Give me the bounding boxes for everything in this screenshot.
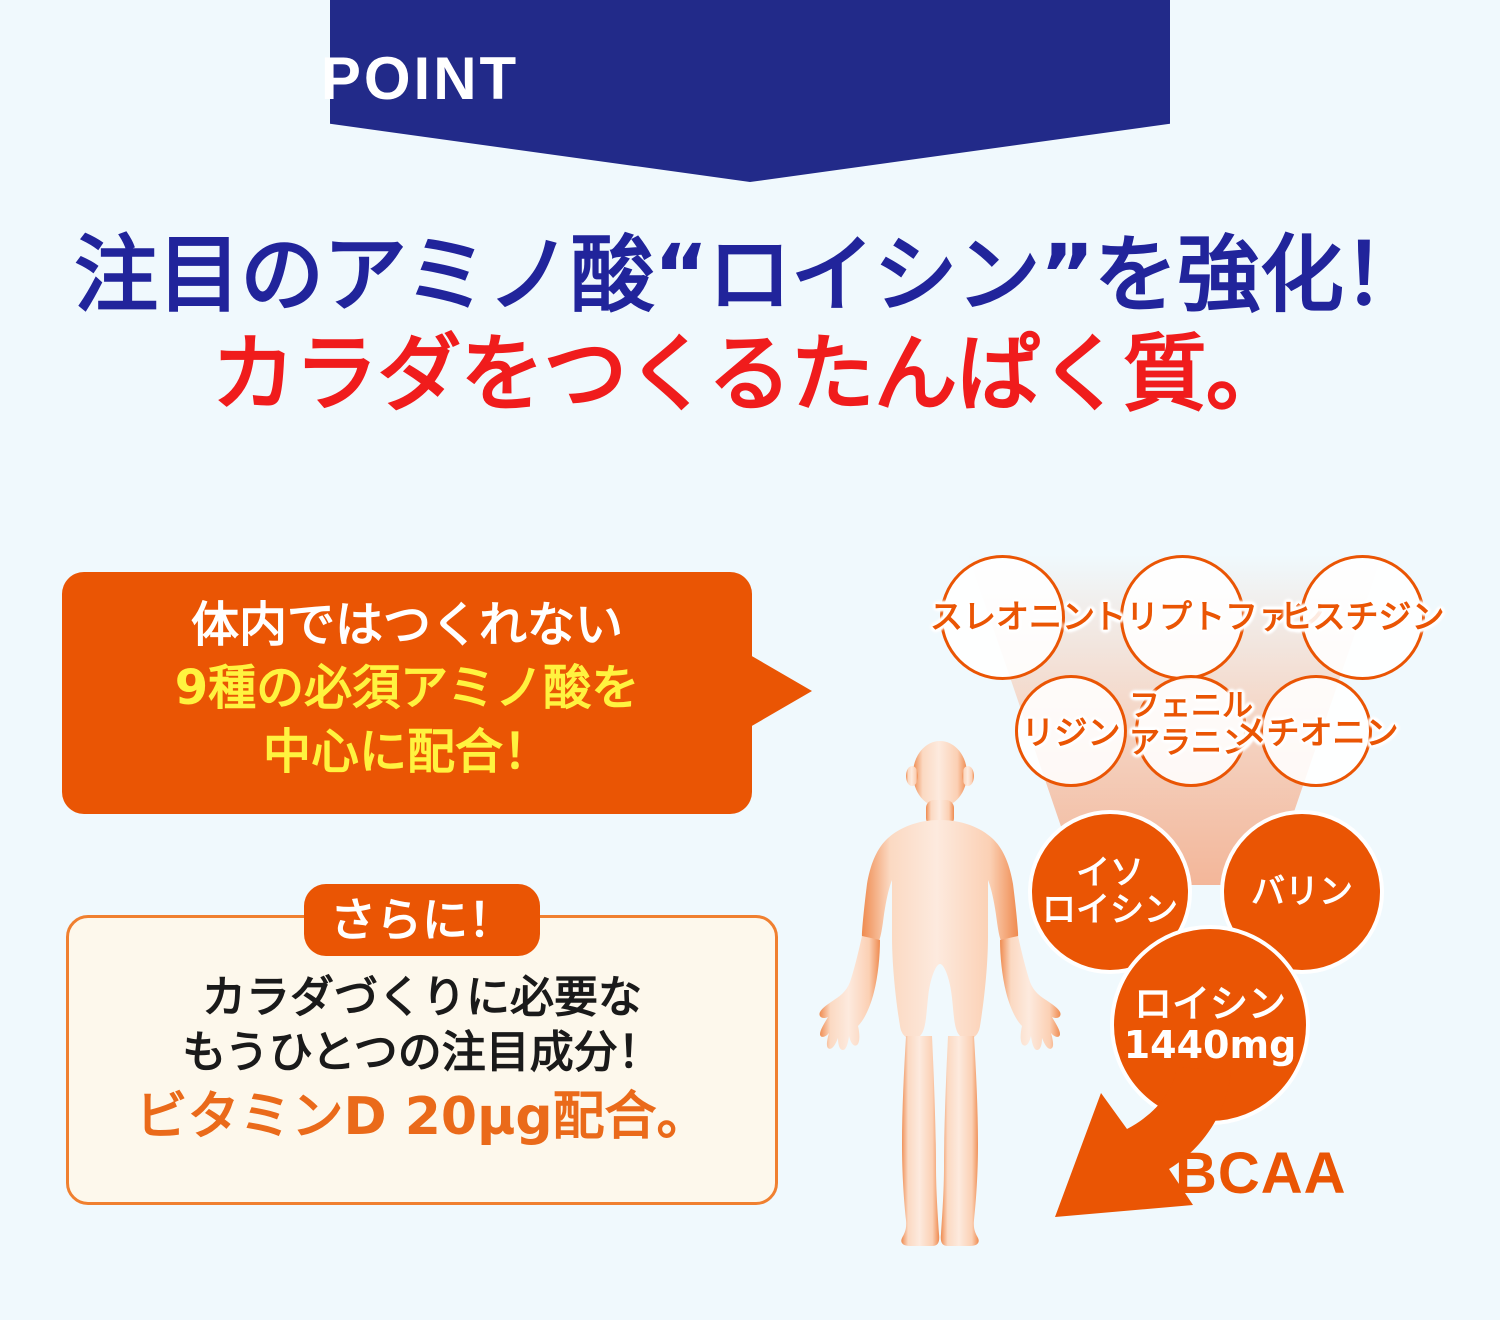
aa-label-lysine: リジン (1015, 706, 1127, 754)
callout-line-1: 体内ではつくれない (62, 594, 752, 657)
aa-label-methionine: メチオニン (1230, 706, 1402, 754)
bcaa-label-valine: バリン (1251, 874, 1353, 911)
callout-line-3: 中心に配合！ (62, 721, 752, 784)
human-body-silhouette-icon (810, 740, 1070, 1260)
aa-label-threonine: スレオニン (930, 590, 1076, 638)
headline: 注目のアミノ酸“ロイシン”を強化！ カラダをつくるたんぱく質。 (0, 228, 1500, 428)
bcaa-tag-label: BCAA (1175, 1140, 1347, 1207)
callout-line-2: 9種の必須アミノ酸を (62, 657, 752, 720)
essential-amino-acid-callout: 体内ではつくれない 9種の必須アミノ酸を 中心に配合！ (62, 572, 752, 814)
aa-label-histidine: ヒスチジン (1276, 590, 1448, 638)
point-section: POINT 注目のアミノ酸“ロイシン”を強化！ カラダをつくるたんぱく質。 体内… (0, 0, 1500, 1320)
vitamin-d-line-1: カラダづくりに必要な (69, 970, 775, 1025)
bcaa-label-leucine: ロイシン 1440mg (1124, 984, 1297, 1066)
headline-line-2: カラダをつくるたんぱく質。 (0, 322, 1500, 428)
sarani-badge: さらに！ (304, 884, 540, 956)
amino-acid-diagram: スレオニン トリプトファン ヒスチジン リジン フェニル アラニン メチオニン … (790, 520, 1500, 1320)
bcaa-label-isoleucine: イソ ロイシン (1042, 855, 1178, 928)
headline-line-1: 注目のアミノ酸“ロイシン”を強化！ (0, 228, 1500, 322)
vitamin-d-accent-line: ビタミンD 20μg配合。 (69, 1081, 775, 1151)
vitamin-d-box: カラダづくりに必要な もうひとつの注目成分！ ビタミンD 20μg配合。 (66, 915, 778, 1205)
point-banner-label: POINT (0, 44, 840, 113)
vitamin-d-line-2: もうひとつの注目成分！ (69, 1025, 775, 1080)
aa-label-tryptophan: トリプトファン (1093, 590, 1273, 638)
